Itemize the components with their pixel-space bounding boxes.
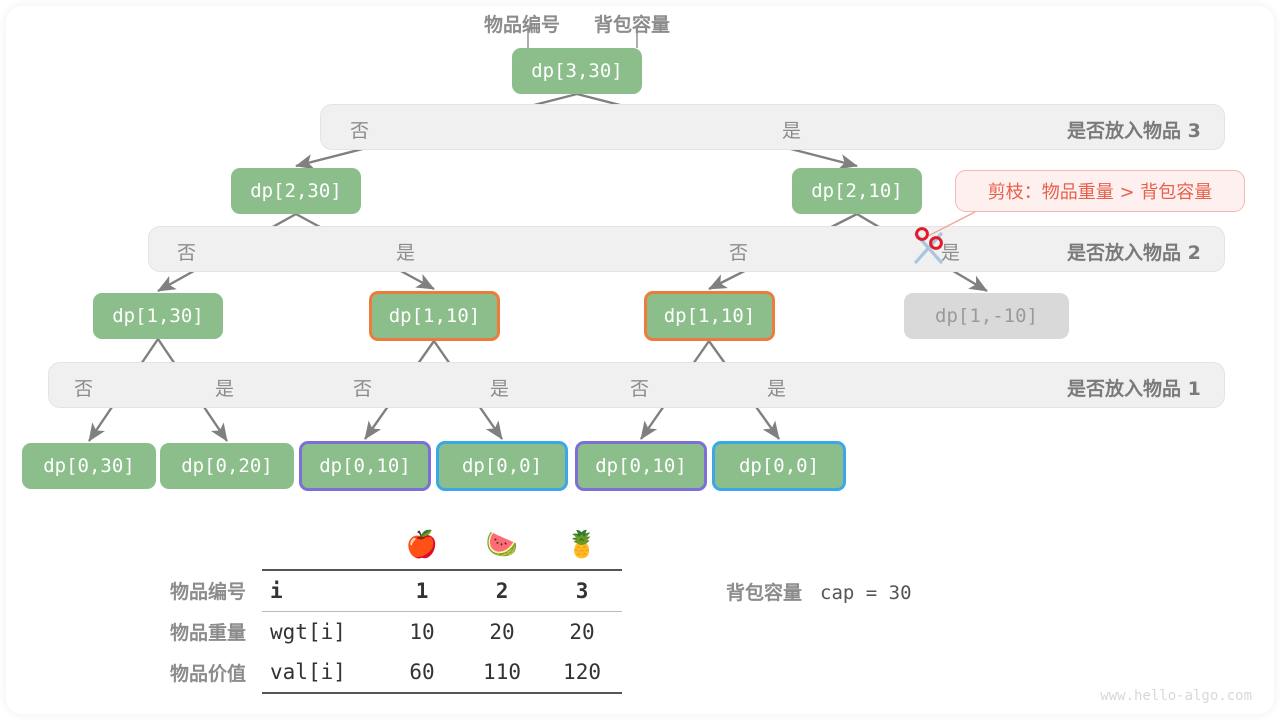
dp-node-l0_30: dp[0,30] <box>22 443 156 489</box>
table-row-header: 物品重量 <box>170 612 262 653</box>
watermark: www.hello-algo.com <box>1100 688 1252 704</box>
dp-node-l0_0a: dp[0,0] <box>436 441 568 491</box>
capacity-note-value: cap = 30 <box>820 582 912 604</box>
top-pointer-label: 物品编号 <box>484 10 560 37</box>
table-row-header: 物品价值 <box>170 652 262 693</box>
top-pointer-label: 背包容量 <box>594 10 670 37</box>
dp-node-l0_10b: dp[0,10] <box>575 441 707 491</box>
table-cell: 2 <box>462 570 542 612</box>
item-emoji-icon: 🍍 <box>542 520 622 570</box>
prune-callout: 剪枝：物品重量 > 背包容量 <box>955 170 1245 212</box>
branch-label: 是 <box>767 374 786 401</box>
capacity-note: 背包容量cap = 30 <box>726 578 912 605</box>
table-emoji-row: 🍎🍉🍍 <box>170 520 622 570</box>
branch-label: 否 <box>729 238 748 265</box>
dp-node-n2_30: dp[2,30] <box>231 168 361 214</box>
dp-node-l0_0b: dp[0,0] <box>712 441 846 491</box>
table-row-key: wgt[i] <box>262 612 382 653</box>
branch-label: 否 <box>177 238 196 265</box>
table-cell: 3 <box>542 570 622 612</box>
table-row: 物品重量wgt[i]102020 <box>170 612 622 653</box>
item-table-grid: 🍎🍉🍍物品编号i123物品重量wgt[i]102020物品价值val[i]601… <box>170 520 622 694</box>
dp-node-n1_30: dp[1,30] <box>93 293 223 339</box>
table-cell: 1 <box>382 570 462 612</box>
decision-band-band2 <box>148 226 1225 272</box>
dp-node-l0_10a: dp[0,10] <box>299 441 431 491</box>
table-row-key: val[i] <box>262 652 382 693</box>
branch-label: 否 <box>630 374 649 401</box>
dp-node-n1_m10: dp[1,-10] <box>904 293 1069 339</box>
scissor-yes-label: 是 <box>941 238 960 265</box>
decision-band-title: 是否放入物品 3 <box>1067 116 1201 143</box>
table-spacer-cell <box>262 520 382 570</box>
branch-label: 是 <box>215 374 234 401</box>
table-row-header: 物品编号 <box>170 570 262 612</box>
dp-node-n2_10: dp[2,10] <box>792 168 922 214</box>
dp-node-n1_10b: dp[1,10] <box>644 291 775 341</box>
table-spacer-cell <box>170 520 262 570</box>
table-cell: 60 <box>382 652 462 693</box>
branch-label: 是 <box>396 238 415 265</box>
table-cell: 10 <box>382 612 462 653</box>
branch-label: 是 <box>782 116 801 143</box>
table-cell: 20 <box>462 612 542 653</box>
branch-label: 否 <box>353 374 372 401</box>
branch-label: 是 <box>490 374 509 401</box>
branch-label: 否 <box>350 116 369 143</box>
decision-band-title: 是否放入物品 2 <box>1067 238 1201 265</box>
dp-node-n1_10a: dp[1,10] <box>369 291 500 341</box>
diagram-canvas: 否是是否放入物品 3否是否是否放入物品 2否是否是否是是否放入物品 1 dp[3… <box>0 0 1280 720</box>
table-cell: 110 <box>462 652 542 693</box>
dp-node-n3_30: dp[3,30] <box>512 48 642 94</box>
branch-label: 否 <box>74 374 93 401</box>
table-cell: 20 <box>542 612 622 653</box>
dp-node-l0_20: dp[0,20] <box>160 443 294 489</box>
item-table: 🍎🍉🍍物品编号i123物品重量wgt[i]102020物品价值val[i]601… <box>170 520 622 694</box>
item-emoji-icon: 🍎 <box>382 520 462 570</box>
item-emoji-icon: 🍉 <box>462 520 542 570</box>
table-cell: 120 <box>542 652 622 693</box>
table-row: 物品价值val[i]60110120 <box>170 652 622 693</box>
decision-band-title: 是否放入物品 1 <box>1067 374 1201 401</box>
capacity-note-label: 背包容量 <box>726 582 802 604</box>
table-row-key: i <box>262 570 382 612</box>
table-row: 物品编号i123 <box>170 570 622 612</box>
